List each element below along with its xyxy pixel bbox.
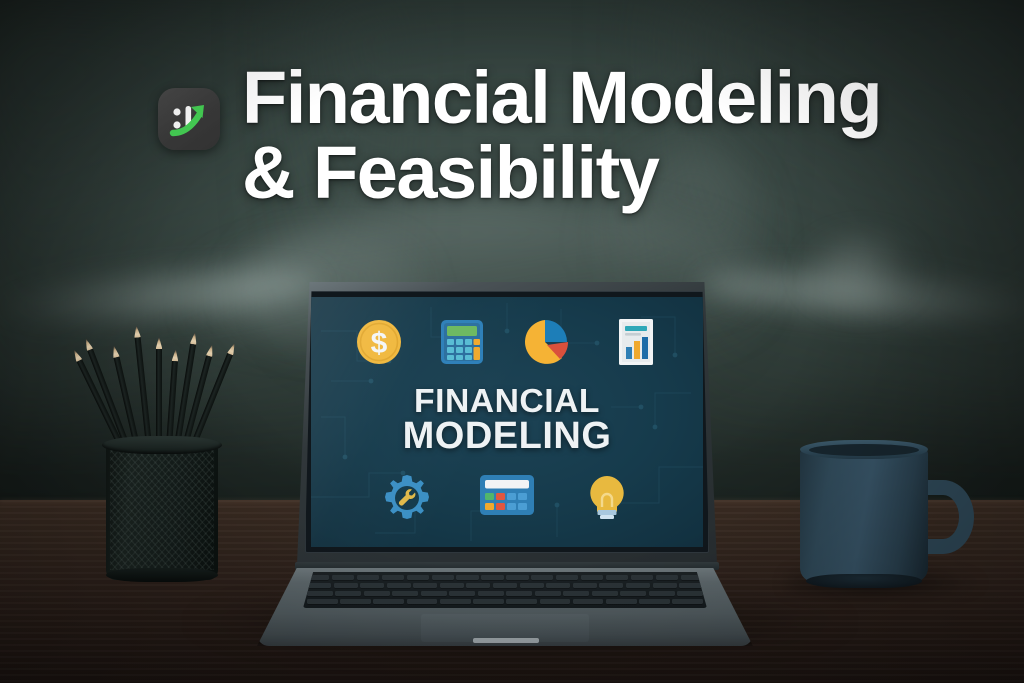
coffee-mug-group — [800, 440, 990, 590]
laptop: $ — [255, 282, 755, 642]
pencil — [156, 348, 162, 446]
keyboard-row — [303, 599, 707, 604]
keyboard-row — [303, 575, 707, 580]
screen-heading-line-2: MODELING — [311, 418, 703, 454]
title-line-2: & Feasibility — [242, 137, 881, 209]
gear-wrench-icon[interactable] — [382, 473, 432, 523]
laptop-front-notch — [473, 638, 539, 643]
pencil-cup-rim — [102, 436, 222, 454]
screen-top-icon-row: $ — [311, 317, 703, 367]
pencil-cup-group — [78, 352, 248, 584]
report-document-icon[interactable] — [611, 317, 661, 367]
screen-heading-line-1: FINANCIAL — [311, 385, 703, 416]
pie-chart-icon[interactable] — [520, 317, 578, 367]
laptop-screen[interactable]: $ — [311, 297, 703, 547]
pencil-cup-base — [106, 568, 218, 582]
poster-canvas: Financial Modeling & Feasibility — [0, 0, 1024, 683]
mug-base — [806, 574, 922, 588]
screen-heading: FINANCIAL MODELING — [311, 385, 703, 454]
pencil-cup — [106, 444, 218, 580]
pencil — [135, 336, 152, 446]
page-title: Financial Modeling & Feasibility — [242, 62, 881, 209]
dollar-coin-icon[interactable]: $ — [354, 317, 404, 367]
laptop-screen-frame: $ — [305, 291, 709, 553]
mug-rim — [800, 440, 928, 459]
poster-header: Financial Modeling & Feasibility — [158, 62, 948, 209]
spreadsheet-calculator-icon[interactable] — [478, 473, 536, 523]
keyboard-row — [303, 583, 707, 588]
laptop-keyboard[interactable] — [303, 572, 707, 608]
svg-text:$: $ — [370, 327, 387, 360]
lightbulb-icon[interactable] — [582, 473, 632, 523]
title-line-1: Financial Modeling — [242, 62, 881, 134]
growth-arrow-logo-icon — [158, 88, 220, 150]
calculator-icon[interactable] — [437, 317, 487, 367]
keyboard-row — [303, 591, 707, 596]
mug-body — [800, 448, 928, 582]
screen-bottom-icon-row — [311, 473, 703, 523]
